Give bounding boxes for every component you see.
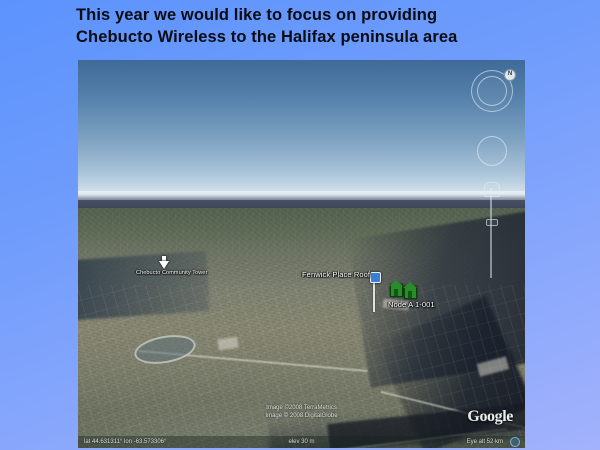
- copyright-line-1: Image ©2008 TerraMetrics: [266, 404, 337, 412]
- placemark-label-node-a-1-001: Node A 1-001: [388, 300, 435, 309]
- arrow-marker-head-icon: [159, 261, 169, 269]
- google-earth-map-view[interactable]: Chebucto Community Tower Fenwick Place R…: [78, 60, 525, 448]
- title-line-1: This year we would like to focus on prov…: [76, 4, 576, 26]
- globe-status-icon: [510, 437, 520, 447]
- placemark-label-fenwick-place-roof: Fenwick Place Roof: [302, 270, 370, 279]
- copyright-line-2: Image © 2008 DigitalGlobe: [265, 412, 337, 420]
- title-line-2: Chebucto Wireless to the Halifax peninsu…: [76, 26, 576, 48]
- google-watermark: Google: [467, 408, 513, 426]
- atmosphere-haze: [78, 191, 525, 197]
- status-bar: lat 44.631311° lon -63.573306° elev 30 m…: [78, 436, 525, 448]
- node-building-icon: [390, 284, 403, 297]
- sky-background: [78, 60, 525, 197]
- node-building-icon: [404, 286, 417, 299]
- placemark-label-chebucto-tower: Chebucto Community Tower: [136, 270, 207, 276]
- presentation-slide: This year we would like to focus on prov…: [0, 0, 600, 450]
- status-eye-altitude: Eye alt 52 km: [467, 439, 503, 445]
- status-coordinates: lat 44.631311° lon -63.573306°: [84, 439, 166, 445]
- pushpin-stick-icon: [373, 278, 375, 312]
- pushpin-head-icon: [370, 272, 381, 283]
- page-title: This year we would like to focus on prov…: [76, 4, 576, 48]
- status-elevation: elev 30 m: [288, 439, 314, 445]
